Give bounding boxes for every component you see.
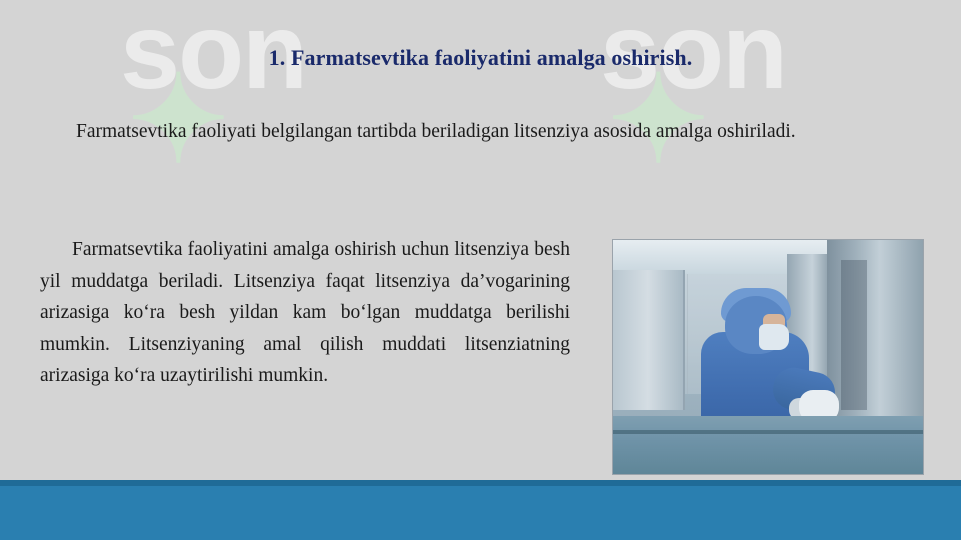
photo-scene — [613, 240, 923, 474]
slide-title: 1. Farmatsevtika faoliyatini amalga oshi… — [0, 45, 961, 71]
slide: son son son son ✦ ✦ ✦ ✦ 1. Farmatsevtika… — [0, 0, 961, 540]
paragraph-two: Farmatsevtika faoliyatini amalga oshiris… — [40, 234, 570, 392]
pharmaceutical-worker-photo — [612, 239, 924, 475]
footer-bar — [0, 486, 961, 540]
paragraph-one: Farmatsevtika faoliyati belgilangan tart… — [40, 118, 918, 146]
photo-worker-mask — [759, 324, 789, 350]
photo-left-equipment — [613, 270, 685, 410]
photo-floor — [613, 416, 923, 474]
photo-floor-line — [613, 430, 923, 434]
